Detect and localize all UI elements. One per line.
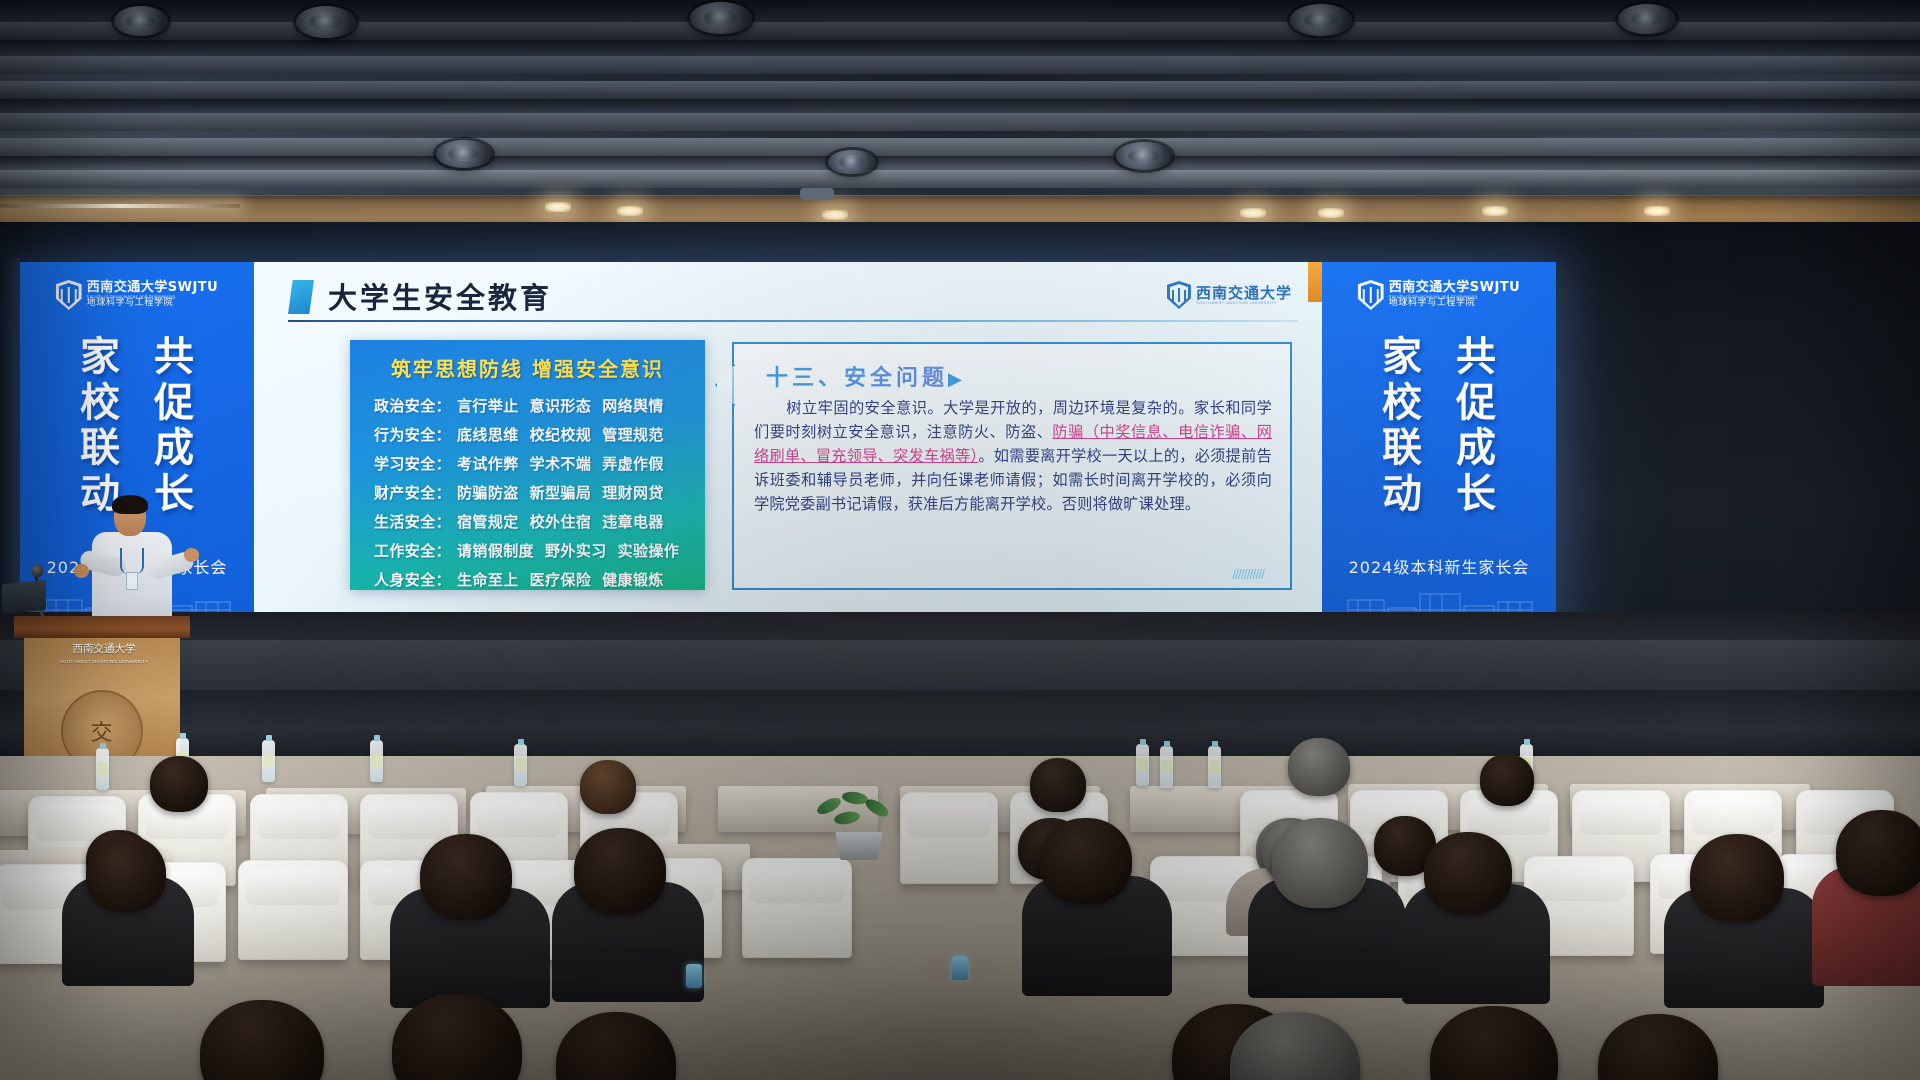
chair <box>900 792 998 884</box>
ceiling-speaker-icon <box>828 150 876 174</box>
matrix-row: 行为安全： 底线思维 校纪校规 管理规范 <box>350 420 705 449</box>
slide-right-banner: 西南交通大学SWJTU Faculty of Geosciences and E… <box>1322 262 1556 640</box>
podium-nameplate: 西南交通大学 SOUTHWEST JIAOTONG UNIVERSITY <box>44 644 164 670</box>
audience-head <box>1480 754 1534 806</box>
ceiling-light <box>545 202 571 212</box>
swjtu-shield-icon <box>1167 281 1191 309</box>
ceiling-speaker-icon <box>114 6 168 36</box>
matrix-row: 财产安全： 防骗防盗 新型骗局 理财网贷 <box>350 478 705 507</box>
ceiling-light <box>822 210 848 220</box>
slogan-char: 长 <box>1456 473 1496 515</box>
matrix-row-value: 健康锻炼 <box>602 569 664 590</box>
slogan-column-1: 家 校 联 动 <box>1382 336 1422 552</box>
ceiling-speaker-icon <box>1290 4 1352 36</box>
slogan-char: 成 <box>154 427 194 469</box>
slogan-column-2: 共 促 成 长 <box>1456 336 1496 552</box>
slide-corner-tab <box>1308 262 1322 302</box>
water-bottle <box>370 740 383 782</box>
projector-mount <box>800 188 834 200</box>
banner-logo: 西南交通大学SWJTU Faculty of Geosciences and E… <box>56 280 218 310</box>
chair <box>238 860 348 960</box>
matrix-row-value: 防骗防盗 <box>457 482 519 503</box>
plant-leaf <box>833 810 861 826</box>
header-divider <box>288 320 1298 322</box>
ceiling-speaker-icon <box>690 2 752 34</box>
audience-head <box>1030 758 1086 812</box>
scribble-mark: /////////// <box>1232 566 1264 582</box>
callout-title-text: 十三、安全问题 <box>766 365 948 391</box>
matrix-row-value: 医疗保险 <box>530 569 592 590</box>
plant-pot <box>832 832 886 860</box>
safety-issue-callout: 十三、安全问题▶ 树立牢固的安全意识。大学是开放的，周边环境是复杂的。家长和同学… <box>732 342 1292 590</box>
matrix-row-value: 实验操作 <box>618 540 680 561</box>
slogan-char: 促 <box>1456 382 1496 424</box>
slogan-char: 成 <box>1456 427 1496 469</box>
photograph-scene: 西南交通大学SWJTU Faculty of Geosciences and E… <box>0 0 1920 1080</box>
matrix-row-key: 人身安全： <box>374 569 451 590</box>
matrix-row-value: 学术不端 <box>530 453 592 474</box>
audience-head <box>556 1012 676 1080</box>
ceiling-light <box>1240 208 1266 218</box>
water-bottle <box>1136 744 1149 786</box>
matrix-title: 筑牢思想防线 增强安全意识 <box>350 353 705 382</box>
audience-head <box>1040 818 1132 904</box>
slogan-char: 联 <box>1382 427 1422 469</box>
matrix-row-key: 工作安全： <box>374 540 451 561</box>
water-bottle <box>262 740 275 782</box>
matrix-row-value: 底线思维 <box>457 424 519 445</box>
audience-head <box>1424 832 1512 914</box>
audience-head <box>1598 1014 1718 1080</box>
matrix-row-key: 生活安全： <box>374 511 451 532</box>
callout-pointer <box>715 364 735 406</box>
smartphone <box>952 956 968 980</box>
presenter-lanyard <box>120 548 144 574</box>
stage-front-panel <box>0 690 1920 760</box>
matrix-row-value: 管理规范 <box>602 424 664 445</box>
water-bottle <box>514 744 527 786</box>
ceiling-light <box>617 206 643 216</box>
matrix-row-value: 违章电器 <box>602 511 664 532</box>
matrix-row-value: 请销假制度 <box>457 540 534 561</box>
swjtu-shield-icon <box>56 280 82 310</box>
matrix-row-value: 新型骗局 <box>530 482 592 503</box>
swjtu-shield-icon <box>1358 280 1384 310</box>
audience-head <box>1836 810 1920 896</box>
slogan-char: 家 <box>1382 336 1422 378</box>
ceiling-speaker-icon <box>436 140 492 168</box>
ceiling-speaker-icon <box>1618 4 1676 34</box>
presenter-hair <box>112 495 148 514</box>
banner-logo-faculty: 地球科学与工程学院 <box>87 299 218 308</box>
matrix-row: 政治安全： 言行举止 意识形态 网络舆情 <box>350 391 705 420</box>
matrix-row-key: 财产安全： <box>374 482 451 503</box>
play-triangle-icon: ▶ <box>948 369 962 390</box>
matrix-row: 工作安全： 请销假制度 野外实习 实验操作 <box>350 536 705 565</box>
banner-logo: 西南交通大学SWJTU Faculty of Geosciences and E… <box>1358 280 1520 310</box>
matrix-row-value: 宿管规定 <box>457 511 519 532</box>
slogan-char: 家 <box>80 336 120 378</box>
smartphone <box>686 964 702 988</box>
banner-logo-name-cn: 西南交通大学SWJTU <box>1389 281 1520 295</box>
matrix-row: 学习安全： 考试作弊 学术不端 弄虚作假 <box>350 449 705 478</box>
ceiling-speaker-icon <box>1116 142 1172 170</box>
slogan-char: 共 <box>154 336 194 378</box>
callout-title: 十三、安全问题▶ <box>766 360 1290 392</box>
chair <box>742 858 852 958</box>
audience-head <box>86 836 166 912</box>
microphone-icon <box>32 564 43 577</box>
audience-head <box>1288 738 1350 796</box>
water-bottle <box>1160 746 1173 788</box>
matrix-row-value: 意识形态 <box>530 395 592 416</box>
matrix-row-key: 行为安全： <box>374 424 451 445</box>
podium-plate-en: SOUTHWEST JIAOTONG UNIVERSITY <box>60 659 149 664</box>
matrix-row-value: 言行举止 <box>457 395 519 416</box>
slide-logo-name-cn: 西南交通大学 <box>1196 285 1292 302</box>
ceiling-light <box>1318 208 1344 218</box>
safety-matrix-card: 筑牢思想防线 增强安全意识 政治安全： 言行举止 意识形态 网络舆情 行为安全：… <box>350 340 705 590</box>
audience-floor <box>0 756 1920 1080</box>
ceiling-speaker-icon <box>296 6 356 38</box>
slide-content: 大学生安全教育 西南交通大学 SOUTHWEST JIAOTONG UNIVER… <box>254 262 1322 640</box>
audience-head <box>420 834 512 920</box>
matrix-row: 生活安全： 宿管规定 校外住宿 违章电器 <box>350 507 705 536</box>
slogan-char: 共 <box>1456 336 1496 378</box>
potted-plant <box>812 788 908 860</box>
matrix-row-value: 考试作弊 <box>457 453 519 474</box>
matrix-row-value: 校外住宿 <box>530 511 592 532</box>
slogan-char: 促 <box>154 382 194 424</box>
banner-year-line: 2024级本科新生家长会 <box>1322 554 1556 578</box>
matrix-row: 人身安全： 生命至上 医疗保险 健康锻炼 <box>350 565 705 594</box>
ceiling-light <box>1644 206 1670 216</box>
slanted-bar-icon <box>288 280 314 314</box>
slogan-char: 校 <box>80 382 120 424</box>
banner-slogan: 家 校 联 动 共 促 成 长 <box>1322 336 1556 552</box>
audience-head <box>200 1000 324 1080</box>
slide-header: 大学生安全教育 西南交通大学 SOUTHWEST JIAOTONG UNIVER… <box>288 275 1298 321</box>
presenter-hand <box>184 548 199 562</box>
slide-logo-name-en: SOUTHWEST JIAOTONG UNIVERSITY <box>1196 301 1292 305</box>
presenter-hand <box>74 564 89 578</box>
banner-logo-name-cn: 西南交通大学SWJTU <box>87 281 218 295</box>
banner-logo-faculty: 地球科学与工程学院 <box>1389 299 1520 308</box>
audience-head <box>580 760 636 814</box>
podium-plate-cn: 西南交通大学 <box>73 643 136 655</box>
audience-head <box>574 828 666 914</box>
matrix-row-value: 理财网贷 <box>602 482 664 503</box>
projection-screen: 西南交通大学SWJTU Faculty of Geosciences and E… <box>20 262 1556 640</box>
laptop <box>2 580 46 615</box>
plant-leaf <box>863 796 891 820</box>
presenter-badge <box>126 572 138 590</box>
matrix-row-value: 网络舆情 <box>602 395 664 416</box>
podium-top <box>14 616 190 638</box>
ceiling <box>0 0 1920 236</box>
ceiling-light <box>0 204 240 208</box>
slogan-char: 动 <box>1382 473 1422 515</box>
water-bottle <box>1208 746 1221 788</box>
slide-header-logo: 西南交通大学 SOUTHWEST JIAOTONG UNIVERSITY <box>1167 281 1292 309</box>
slogan-char: 校 <box>1382 382 1422 424</box>
audience-head <box>1430 1006 1558 1080</box>
ceiling-light <box>1482 206 1508 216</box>
matrix-row-key: 政治安全： <box>374 395 451 416</box>
matrix-row-value: 野外实习 <box>545 540 607 561</box>
audience-head <box>1690 834 1784 922</box>
slogan-char: 联 <box>80 427 120 469</box>
audience-head <box>150 756 208 812</box>
matrix-row-key: 学习安全： <box>374 453 451 474</box>
audience-head <box>1272 818 1368 908</box>
matrix-row-value: 校纪校规 <box>530 424 592 445</box>
slide-title: 大学生安全教育 <box>328 275 552 317</box>
matrix-row-value: 生命至上 <box>457 569 519 590</box>
callout-body: 树立牢固的安全意识。大学是开放的，周边环境是复杂的。家长和同学们要时刻树立安全意… <box>754 396 1272 516</box>
matrix-row-value: 弄虚作假 <box>602 453 664 474</box>
water-bottle <box>96 748 109 790</box>
